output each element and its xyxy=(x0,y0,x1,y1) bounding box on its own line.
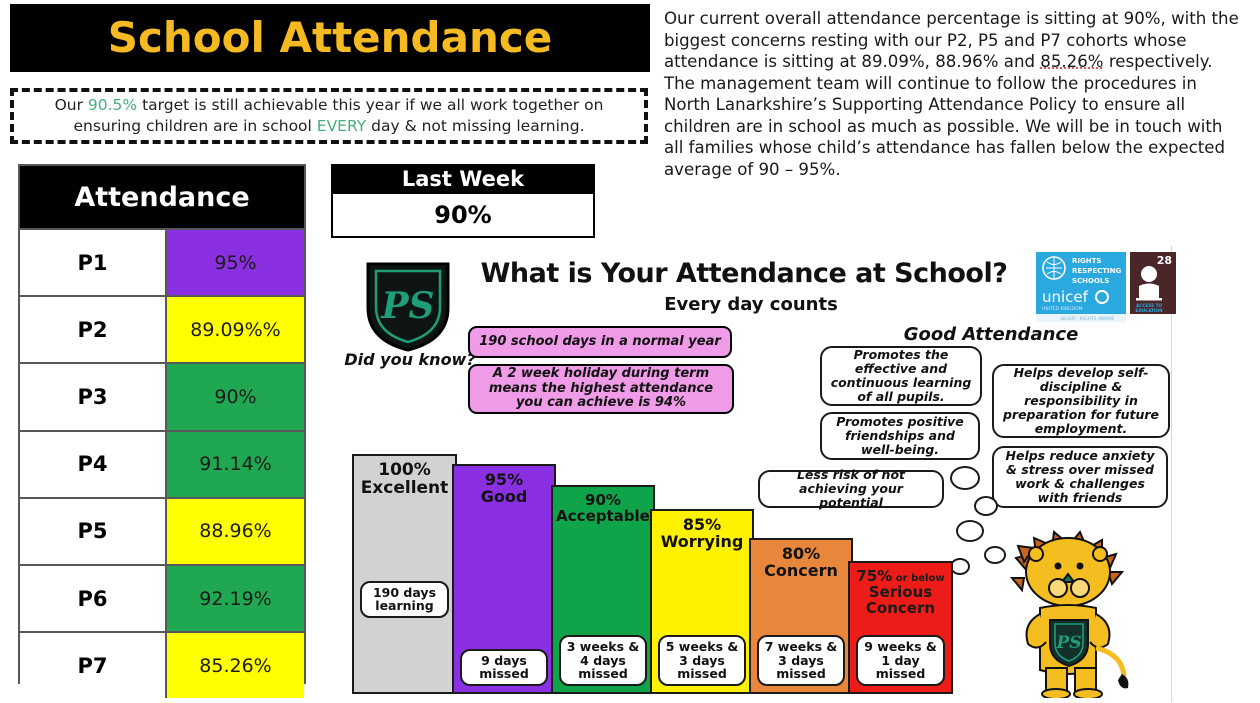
title-banner: School Attendance xyxy=(10,4,650,72)
narrative-text: Our current overall attendance percentag… xyxy=(664,8,1244,181)
svg-text:RIGHTS: RIGHTS xyxy=(1072,257,1101,265)
attendance-table: Attendance P1 95% P2 89.09%% P3 90% P4 9… xyxy=(18,164,306,684)
table-cell-value: 89.09%% xyxy=(167,297,304,362)
unicef-rights-respecting-schools-badge: RIGHTS RESPECTING SCHOOLS unicef UNITED … xyxy=(1036,252,1176,322)
table-cell-value: 85.26% xyxy=(167,633,304,698)
table-cell-value: 91.14% xyxy=(167,432,304,497)
bar-label-group: 85% Worrying xyxy=(652,517,752,551)
bar-note: 5 weeks & 3 days missed xyxy=(658,635,746,686)
last-week-box: Last Week 90% xyxy=(331,164,595,236)
bar-label-group: 80% Concern xyxy=(751,546,851,580)
lion-mascot-icon: PS xyxy=(996,528,1146,698)
svg-text:EDUCATION: EDUCATION xyxy=(1135,308,1163,313)
bar-rating: Serious Concern xyxy=(850,585,951,617)
table-cell-class: P1 xyxy=(20,230,167,295)
table-cell-class: P2 xyxy=(20,297,167,362)
did-you-know-label: Did you know? xyxy=(340,350,480,369)
svg-text:PS: PS xyxy=(1055,633,1081,653)
narrative-p1-b: respectively. xyxy=(1104,52,1213,71)
bar-90-acceptable: 90% Acceptable 3 weeks & 4 days missed xyxy=(551,485,655,694)
table-cell-class: P4 xyxy=(20,432,167,497)
table-row: P5 88.96% xyxy=(20,497,304,564)
table-row: P7 85.26% xyxy=(20,631,304,698)
last-week-header: Last Week xyxy=(331,164,595,194)
bar-80-concern: 80% Concern 7 weeks & 3 days missed xyxy=(749,538,853,694)
narrative-paragraph-2: The management team will continue to fol… xyxy=(664,73,1244,181)
bar-note: 9 weeks & 1 day missed xyxy=(856,635,945,686)
bar-rating: Excellent xyxy=(354,480,455,498)
table-cell-class: P5 xyxy=(20,499,167,564)
last-week-body: 90% xyxy=(331,194,595,238)
attendance-bar-chart: 100% Excellent 190 days learning 95% Goo… xyxy=(344,446,974,698)
bar-label-group: 95% Good xyxy=(454,472,554,506)
target-highlight-every: EVERY xyxy=(317,117,366,135)
narrative-paragraph-1: Our current overall attendance percentag… xyxy=(664,8,1244,73)
bar-85-worrying: 85% Worrying 5 weeks & 3 days missed xyxy=(650,509,754,694)
svg-text:PS: PS xyxy=(380,285,434,327)
table-cell-value: 90% xyxy=(167,364,304,429)
bar-rating: Concern xyxy=(751,563,851,580)
table-cell-class: P3 xyxy=(20,364,167,429)
thought-bubble-icon xyxy=(974,496,998,516)
bar-75-serious-concern: 75% or below Serious Concern 9 weeks & 1… xyxy=(848,561,953,694)
page-title: School Attendance xyxy=(108,17,553,59)
target-part-3: day & not missing learning. xyxy=(366,117,584,135)
bar-note: 9 days missed xyxy=(460,649,548,687)
benefit-box-anxiety: Helps reduce anxiety & stress over misse… xyxy=(992,446,1168,508)
school-crest-icon: PS xyxy=(360,260,456,352)
table-row: P3 90% xyxy=(20,362,304,429)
svg-text:SCHOOLS: SCHOOLS xyxy=(1072,277,1109,285)
svg-text:UNITED KINGDOM: UNITED KINGDOM xyxy=(1042,306,1083,312)
bar-label-group: 90% Acceptable xyxy=(553,493,653,525)
bar-note: 190 days learning xyxy=(360,581,449,619)
bar-95-good: 95% Good 9 days missed xyxy=(452,464,556,694)
table-row: P1 95% xyxy=(20,228,304,295)
table-cell-class: P7 xyxy=(20,633,167,698)
svg-text:RESPECTING: RESPECTING xyxy=(1072,267,1122,275)
fact-box-school-days: 190 school days in a normal year xyxy=(468,326,732,358)
target-highlight-percent: 90.5% xyxy=(88,96,137,114)
table-cell-value: 88.96% xyxy=(167,499,304,564)
fact-box-holiday-impact: A 2 week holiday during term means the h… xyxy=(468,364,734,414)
bar-rating: Acceptable xyxy=(553,509,653,525)
table-row: P6 92.19% xyxy=(20,564,304,631)
narrative-p1-spellcheck: 85.26% xyxy=(1040,52,1103,71)
table-cell-value: 95% xyxy=(167,230,304,295)
benefit-box-self-discipline: Helps develop self-discipline & responsi… xyxy=(992,364,1170,438)
svg-text:SILVER - RIGHTS AWARE: SILVER - RIGHTS AWARE xyxy=(1060,316,1114,322)
bar-note: 3 weeks & 4 days missed xyxy=(559,635,647,686)
bar-note: 7 weeks & 3 days missed xyxy=(757,635,845,686)
bar-100-excellent: 100% Excellent 190 days learning xyxy=(352,454,457,694)
target-part-1: Our xyxy=(55,96,88,114)
infographic-title: What is Your Attendance at School? xyxy=(464,258,1024,289)
bar-label-group: 75% or below Serious Concern xyxy=(850,569,951,616)
good-attendance-heading: Good Attendance xyxy=(876,324,1106,345)
svg-text:unicef: unicef xyxy=(1042,288,1089,306)
last-week-header-label: Last Week xyxy=(402,167,524,191)
attendance-table-header-label: Attendance xyxy=(74,182,249,213)
table-cell-class: P6 xyxy=(20,566,167,631)
table-row: P4 91.14% xyxy=(20,430,304,497)
table-row: P2 89.09%% xyxy=(20,295,304,362)
attendance-table-header: Attendance xyxy=(20,166,304,228)
table-cell-value: 92.19% xyxy=(167,566,304,631)
benefit-box-learning: Promotes the effective and continuous le… xyxy=(820,346,982,406)
bar-rating: Good xyxy=(454,489,554,506)
bar-label-group: 100% Excellent xyxy=(354,462,455,498)
infographic-subtitle: Every day counts xyxy=(586,294,916,315)
target-statement-text: Our 90.5% target is still achievable thi… xyxy=(24,95,634,137)
last-week-value: 90% xyxy=(434,201,491,229)
svg-text:28: 28 xyxy=(1157,254,1172,267)
attendance-infographic: PS What is Your Attendance at School? Ev… xyxy=(336,246,1172,702)
bar-rating: Worrying xyxy=(652,534,752,551)
target-statement-box: Our 90.5% target is still achievable thi… xyxy=(10,88,648,144)
